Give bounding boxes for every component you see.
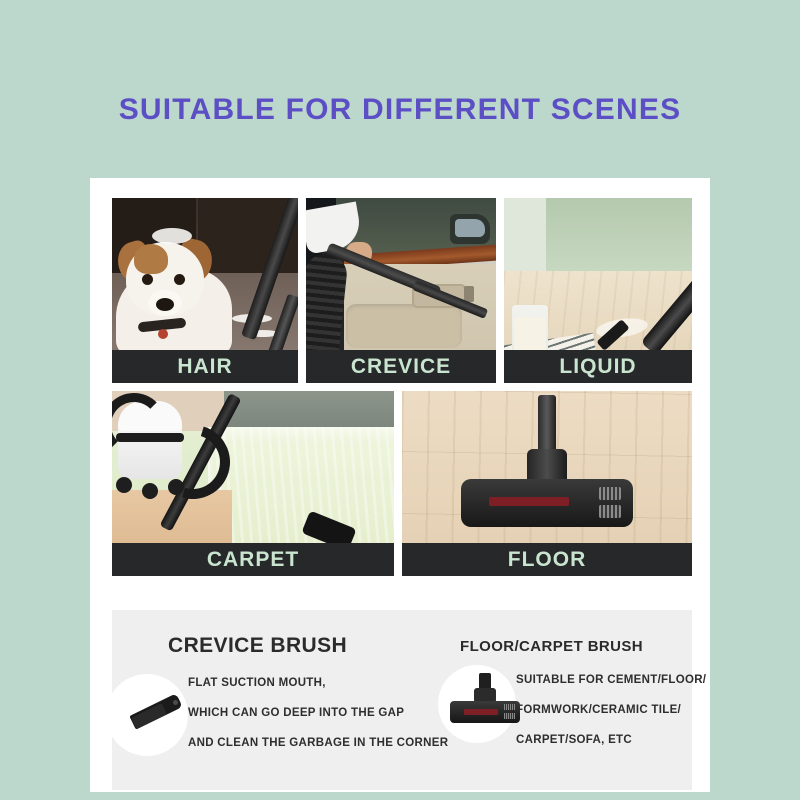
scene-caption-crevice: CREVICE <box>306 350 496 383</box>
scene-caption-liquid: LIQUID <box>504 350 692 383</box>
scene-tile-floor[interactable]: FLOOR <box>402 391 692 576</box>
floor-carpet-brush-info: FLOOR/CARPET BRUSH SUITABLE FOR CEMENT/F… <box>442 610 692 755</box>
scene-tile-carpet[interactable]: CARPET <box>112 391 394 576</box>
scene-tile-liquid[interactable]: LIQUID <box>504 198 692 383</box>
floor-brush-description: SUITABLE FOR CEMENT/FLOOR/ FORMWORK/CERA… <box>516 665 692 755</box>
floor-carpet-brush-title: FLOOR/CARPET BRUSH <box>460 638 692 655</box>
floor-desc-line-3: CARPET/SOFA, ETC <box>516 725 692 755</box>
floor-desc-line-1: SUITABLE FOR CEMENT/FLOOR/ <box>516 665 692 695</box>
page-title: SUITABLE FOR DIFFERENT SCENES <box>0 93 800 127</box>
crevice-brush-description: FLAT SUCTION MOUTH, WHICH CAN GO DEEP IN… <box>188 668 442 758</box>
scene-grid: HAIR <box>112 198 692 576</box>
content-card: HAIR <box>90 178 710 792</box>
crevice-desc-line-2: WHICH CAN GO DEEP INTO THE GAP <box>188 698 442 728</box>
crevice-brush-title: CREVICE BRUSH <box>168 634 442 658</box>
crevice-brush-icon <box>128 690 186 730</box>
crevice-desc-line-1: FLAT SUCTION MOUTH, <box>188 668 442 698</box>
scene-row-2: CARPET FLOOR <box>112 391 692 576</box>
scene-tile-crevice[interactable]: CREVICE <box>306 198 496 383</box>
floor-desc-line-2: FORMWORK/CERAMIC TILE/ <box>516 695 692 725</box>
scene-row-1: HAIR <box>112 198 692 383</box>
crevice-desc-line-3: AND CLEAN THE GARBAGE IN THE CORNER <box>188 728 442 758</box>
crevice-brush-info: CREVICE BRUSH FLAT SUCTION MOUTH, WHICH … <box>112 610 442 758</box>
scene-tile-hair[interactable]: HAIR <box>112 198 298 383</box>
brush-info-footer: CREVICE BRUSH FLAT SUCTION MOUTH, WHICH … <box>112 610 692 790</box>
scene-caption-hair: HAIR <box>112 350 298 383</box>
floor-carpet-brush-icon <box>450 673 520 735</box>
scene-caption-floor: FLOOR <box>402 543 692 576</box>
product-infographic: SUITABLE FOR DIFFERENT SCENES <box>0 0 800 800</box>
scene-caption-carpet: CARPET <box>112 543 394 576</box>
